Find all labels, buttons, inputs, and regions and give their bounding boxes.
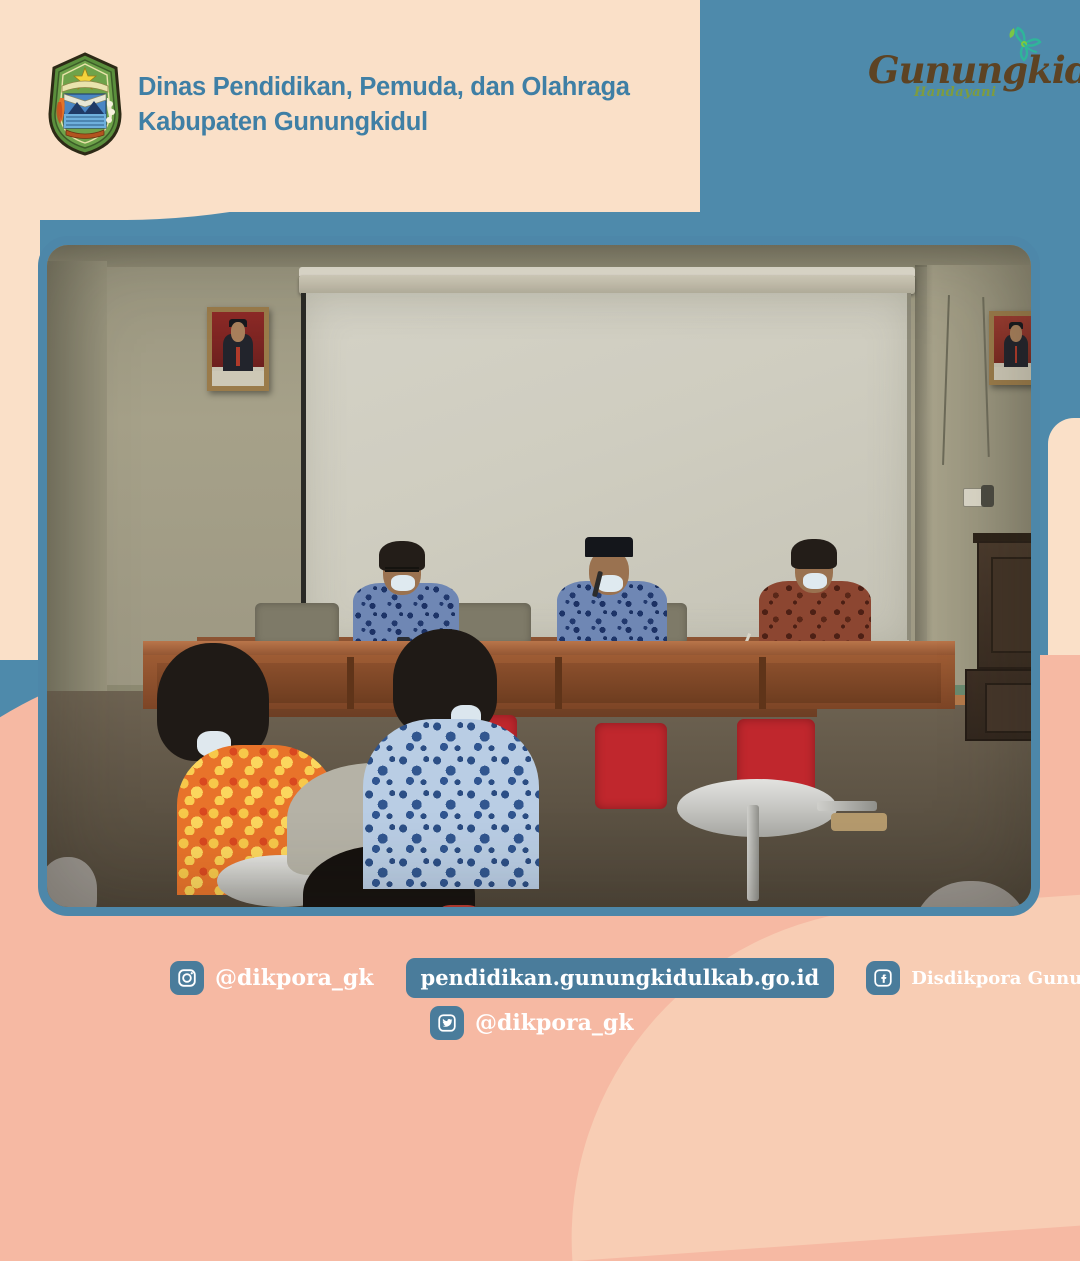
gunungkidul-brand-logo: Gunungkidul Handayani bbox=[868, 48, 1068, 110]
page-title: Dinas Pendidikan, Pemuda, dan Olahraga K… bbox=[138, 70, 630, 140]
title-line-1: Dinas Pendidikan, Pemuda, dan Olahraga bbox=[138, 70, 630, 105]
photo-wall-left bbox=[47, 261, 107, 691]
twitter-handle[interactable]: @dikpora_gk bbox=[475, 1010, 634, 1036]
cabinet-panel-lower bbox=[985, 683, 1040, 733]
wall-plug bbox=[981, 485, 994, 507]
red-chair bbox=[595, 723, 667, 809]
gunungkidul-regency-crest-icon bbox=[46, 52, 124, 156]
audience-hijab-purple bbox=[57, 913, 153, 916]
website-url-pill[interactable]: pendidikan.gunungkidulkab.go.id bbox=[406, 958, 835, 998]
header: Dinas Pendidikan, Pemuda, dan Olahraga K… bbox=[0, 0, 1080, 210]
instagram-icon[interactable] bbox=[170, 961, 204, 995]
facebook-group[interactable]: Disdikpora Gunungkidul bbox=[866, 961, 1080, 995]
facebook-icon[interactable] bbox=[866, 961, 900, 995]
president-portrait-frame bbox=[207, 307, 269, 391]
cabinet-panel-upper bbox=[991, 557, 1040, 653]
footer-row-secondary: @dikpora_gk bbox=[430, 1006, 634, 1040]
chair-writing-pad bbox=[831, 813, 887, 831]
footer-row-primary: @dikpora_gk pendidikan.gunungkidulkab.go… bbox=[170, 958, 1080, 998]
meeting-photograph bbox=[38, 236, 1040, 916]
wall-socket bbox=[963, 488, 983, 507]
head-table-panel bbox=[157, 663, 941, 703]
background-peach-left-strip bbox=[0, 210, 40, 660]
audience-pns-batik bbox=[363, 719, 539, 889]
audience-face-mask bbox=[261, 915, 449, 916]
vice-president-portrait-frame bbox=[989, 311, 1040, 385]
footer-social-bar: @dikpora_gk pendidikan.gunungkidulkab.go… bbox=[0, 930, 1080, 1080]
title-line-2: Kabupaten Gunungkidul bbox=[138, 105, 630, 140]
photo-wall-corner-shadow bbox=[915, 265, 933, 695]
projector-screen-edge-right bbox=[907, 293, 911, 645]
dragonfly-leaf-mark-icon bbox=[998, 20, 1046, 68]
brand-tagline: Handayani bbox=[914, 85, 997, 100]
projector-screen-housing bbox=[299, 275, 915, 294]
facebook-page-name[interactable]: Disdikpora Gunungkidul bbox=[911, 968, 1080, 989]
twitter-icon[interactable] bbox=[430, 1006, 464, 1040]
projector-screen-edge-left bbox=[301, 293, 306, 645]
instagram-handle[interactable]: @dikpora_gk bbox=[215, 965, 374, 991]
peci-cap bbox=[585, 537, 633, 557]
photo-ceiling-band bbox=[47, 245, 1031, 267]
head-table-chair bbox=[255, 603, 339, 645]
